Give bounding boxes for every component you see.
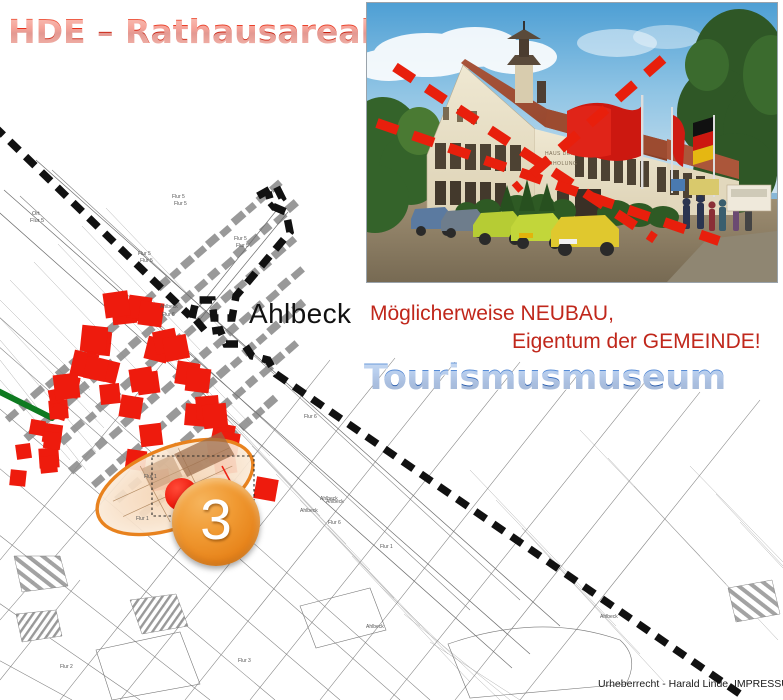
svg-text:Ahlbeck: Ahlbeck <box>300 508 318 514</box>
headline-tourismusmuseum: Tourismusmuseum <box>364 358 726 398</box>
svg-text:Flur 6: Flur 6 <box>162 312 175 318</box>
place-label-ahlbeck: Ahlbeck <box>249 298 351 330</box>
copyright-notice[interactable]: Urheberrecht - Harald Linde, IMPRESSUM <box>598 678 783 690</box>
page-title: HDE – Rathausareal: <box>8 12 385 51</box>
photo-svg: HAUS DER ERHOLUNG <box>367 3 777 282</box>
svg-text:Ahlbeck: Ahlbeck <box>600 614 618 620</box>
svg-text:Ahlbeck: Ahlbeck <box>160 304 178 310</box>
svg-text:Flur 5: Flur 5 <box>30 218 44 224</box>
svg-text:Flur 5: Flur 5 <box>234 236 247 242</box>
historic-building-photo: HAUS DER ERHOLUNG <box>366 2 778 283</box>
svg-text:Ahlbeck: Ahlbeck <box>326 499 344 505</box>
svg-text:Ort: Ort <box>32 211 40 217</box>
svg-text:Flur 5: Flur 5 <box>140 258 153 264</box>
svg-text:Flur 3: Flur 3 <box>238 658 251 664</box>
note-line-1: Möglicherweise NEUBAU, <box>370 302 614 326</box>
svg-text:Flur 5: Flur 5 <box>236 243 249 249</box>
marker-number: 3 <box>200 492 232 549</box>
svg-text:Flur 6: Flur 6 <box>304 414 317 420</box>
svg-text:Flur 2: Flur 2 <box>60 664 73 670</box>
map-numbered-marker[interactable]: 3 <box>172 478 260 566</box>
svg-text:Flur 1: Flur 1 <box>144 474 157 480</box>
svg-text:Flur 5: Flur 5 <box>172 194 185 200</box>
svg-text:Ahlbeck: Ahlbeck <box>366 624 384 630</box>
svg-text:Flur 1: Flur 1 <box>380 544 393 550</box>
svg-text:Flur 5: Flur 5 <box>138 251 151 257</box>
slide-root: Ort Flur 5 Ahlbeck Flur 6 Flur 5 Flur 5 … <box>0 0 783 700</box>
note-line-2: Eigentum der GEMEINDE! <box>512 330 761 354</box>
svg-text:Flur 1: Flur 1 <box>136 516 149 522</box>
svg-text:Flur 6: Flur 6 <box>328 520 341 526</box>
svg-text:Flur 5: Flur 5 <box>174 201 187 207</box>
